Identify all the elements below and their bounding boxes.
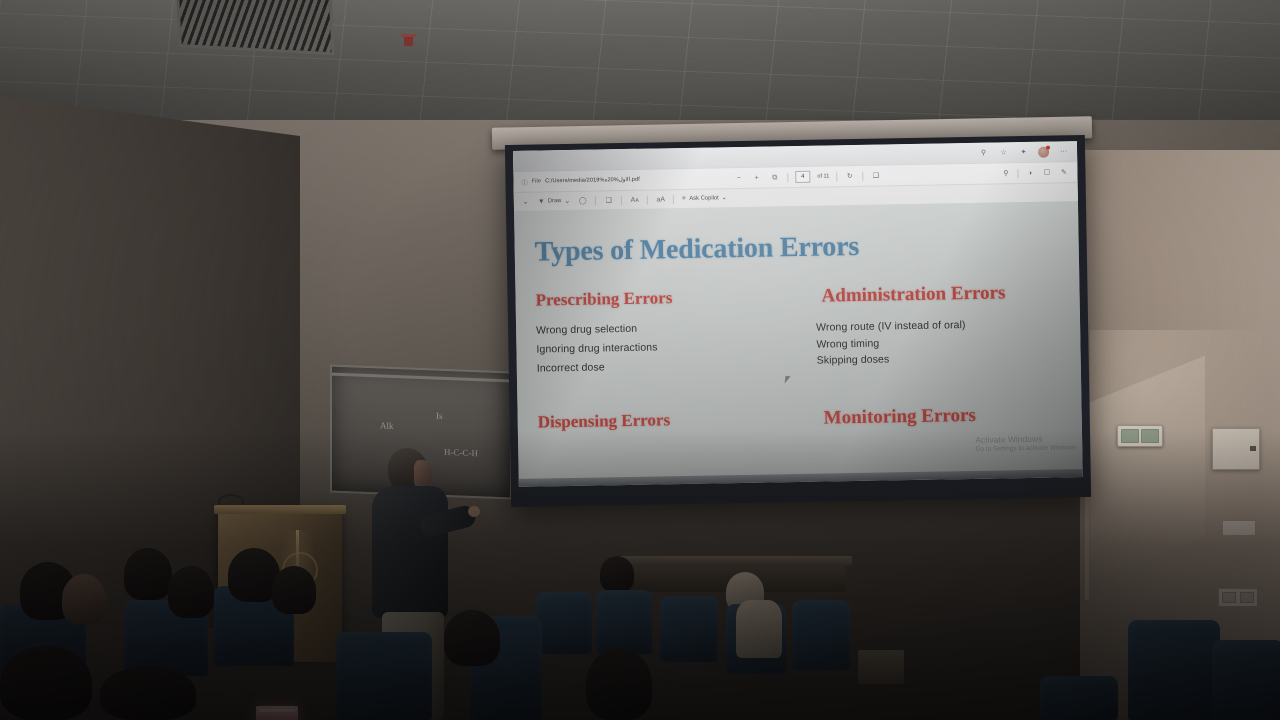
divider	[595, 196, 596, 205]
list-item: Wrong drug selection	[536, 319, 798, 340]
chevron-down-icon: ⌄	[564, 197, 570, 205]
highlight-icon[interactable]: ◑	[1024, 167, 1035, 178]
auditorium-seat	[1128, 620, 1220, 720]
projector-screen-frame: ⚲ ☆ ✦ ⋯ ⓘ File C:/Users/media/2019%الاول…	[505, 135, 1091, 507]
chevron-down-icon[interactable]: ⌄	[520, 196, 531, 207]
whiteboard-tray	[332, 373, 510, 383]
lecture-desk	[612, 556, 852, 566]
pdf-zoom-and-pagination: − + ⧉ 4 of 11 ↻ ❑	[733, 170, 881, 185]
draw-tool[interactable]: ▼ Draw ⌄	[538, 197, 570, 206]
favorites-star-icon[interactable]: ☆	[998, 147, 1009, 158]
divider	[1017, 169, 1018, 178]
slide-column-right: Administration Errors Wrong route (IV in…	[797, 281, 1067, 376]
browser-chrome: ⚲ ☆ ✦ ⋯ ⓘ File C:/Users/media/2019%الاول…	[513, 141, 1078, 211]
section-heading-monitoring: Monitoring Errors	[824, 403, 1068, 429]
divider	[862, 171, 863, 180]
page-number-input[interactable]: 4	[795, 171, 810, 183]
divider	[647, 195, 648, 204]
mouse-cursor	[785, 376, 794, 385]
whiteboard-writing: Alk	[380, 420, 394, 431]
audience-member	[62, 574, 106, 624]
divider	[836, 172, 837, 181]
auditorium-seat	[536, 592, 592, 654]
audience-member	[100, 666, 196, 720]
pen-icon: ▼	[538, 198, 545, 205]
slide-column-left: Prescribing Errors Wrong drug selection …	[529, 286, 799, 381]
collections-icon[interactable]: ✦	[1018, 146, 1029, 157]
slide-bottom-row: Dispensing Errors Monitoring Errors	[532, 403, 1068, 434]
slide-title: Types of Medication Errors	[534, 227, 1064, 268]
draw-label: Draw	[548, 198, 562, 204]
ask-copilot-label: Ask Copilot	[689, 195, 718, 202]
edit-icon[interactable]: ✎	[1058, 167, 1069, 178]
text-size-icon[interactable]: aA	[655, 194, 666, 205]
divider	[621, 196, 622, 205]
audience-member	[0, 646, 92, 720]
audience-member	[272, 566, 316, 614]
lecture-hall-scene: Alk Is H-C-C-H ⚲ ☆ ✦ ⋯ ⓘ File C:	[0, 0, 1280, 720]
address-url: C:/Users/media/2019%الاول%20ه.pdf	[545, 177, 640, 185]
thermostat-panel[interactable]	[1117, 425, 1163, 447]
projected-slide-surface: ⚲ ☆ ✦ ⋯ ⓘ File C:/Users/media/2019%الاول…	[513, 141, 1083, 487]
page-layout-icon[interactable]: ❑	[603, 195, 614, 206]
bullet-list-prescribing: Wrong drug selection Ignoring drug inter…	[536, 319, 799, 377]
wall-outlet[interactable]	[1218, 588, 1258, 607]
pdf-search-icon[interactable]: ⚲	[1000, 168, 1011, 179]
wall-conduit	[1085, 480, 1089, 600]
ask-copilot-button[interactable]: ⚛ Ask Copilot ⌄	[681, 195, 726, 202]
chevron-down-icon: ⌄	[722, 195, 727, 201]
profile-icon[interactable]	[1038, 146, 1049, 157]
auditorium-seat	[336, 632, 432, 720]
read-aloud-icon[interactable]: Aᴀ	[629, 194, 640, 205]
copilot-icon: ⚛	[681, 196, 686, 202]
file-info-icon: ⓘ	[521, 177, 527, 186]
zoom-out-button[interactable]: −	[733, 172, 744, 183]
divider	[787, 173, 788, 182]
list-item: Skipping doses	[817, 349, 1067, 369]
control-panel-box[interactable]	[1212, 428, 1260, 470]
slide-bottom-right: Monitoring Errors	[800, 403, 1068, 430]
auditorium-seat	[660, 596, 718, 662]
audience-member	[736, 600, 782, 658]
section-heading-prescribing: Prescribing Errors	[535, 286, 797, 311]
auditorium-seat	[792, 600, 850, 670]
page-view-icon[interactable]: ❑	[870, 170, 881, 181]
watermark-line-1: Activate Windows	[975, 433, 1076, 445]
address-scheme-label: File	[532, 178, 542, 184]
erase-icon[interactable]: ◯	[577, 195, 588, 206]
windows-activation-watermark: Activate Windows Go to Settings to activ…	[975, 433, 1076, 453]
auditorium-seat	[596, 590, 652, 654]
wall-outlet[interactable]	[1222, 520, 1256, 536]
auditorium-seat	[1212, 640, 1280, 720]
search-icon[interactable]: ⚲	[978, 147, 989, 158]
section-heading-dispensing: Dispensing Errors	[538, 408, 800, 433]
lecture-desk	[858, 650, 904, 684]
section-heading-administration: Administration Errors	[821, 281, 1065, 307]
slide-columns: Prescribing Errors Wrong drug selection …	[529, 281, 1066, 380]
address-display[interactable]: ⓘ File C:/Users/media/2019%الاول%20ه.pdf	[521, 175, 639, 186]
zoom-in-button[interactable]: +	[751, 172, 762, 183]
phone-screen	[256, 706, 298, 720]
rotate-icon[interactable]: ↻	[844, 170, 855, 181]
sprinkler-head-icon	[404, 36, 413, 46]
fit-page-button[interactable]: ⧉	[769, 172, 780, 183]
audience-member	[168, 566, 214, 618]
audience-member	[600, 556, 634, 592]
presenter-hand	[468, 506, 480, 517]
slide-bottom-left: Dispensing Errors	[532, 408, 800, 435]
bullet-list-administration: Wrong route (IV instead of oral) Wrong t…	[816, 316, 1067, 369]
podium-top-surface	[214, 505, 346, 514]
auditorium-seat	[1040, 676, 1118, 720]
divider	[673, 195, 674, 204]
more-options-icon[interactable]: ⋯	[1058, 146, 1069, 157]
page-count-label: of 11	[817, 173, 829, 179]
whiteboard-writing: Is	[436, 411, 443, 421]
list-item: Incorrect dose	[537, 357, 799, 378]
list-item: Ignoring drug interactions	[536, 338, 798, 359]
save-icon[interactable]: ☐	[1041, 167, 1052, 178]
hvac-diffuser-icon	[178, 0, 331, 52]
audience-member	[444, 610, 500, 666]
audience-member	[124, 548, 172, 600]
presenter-face	[414, 460, 432, 488]
audience-member	[586, 648, 652, 720]
presenter-torso	[372, 486, 448, 618]
